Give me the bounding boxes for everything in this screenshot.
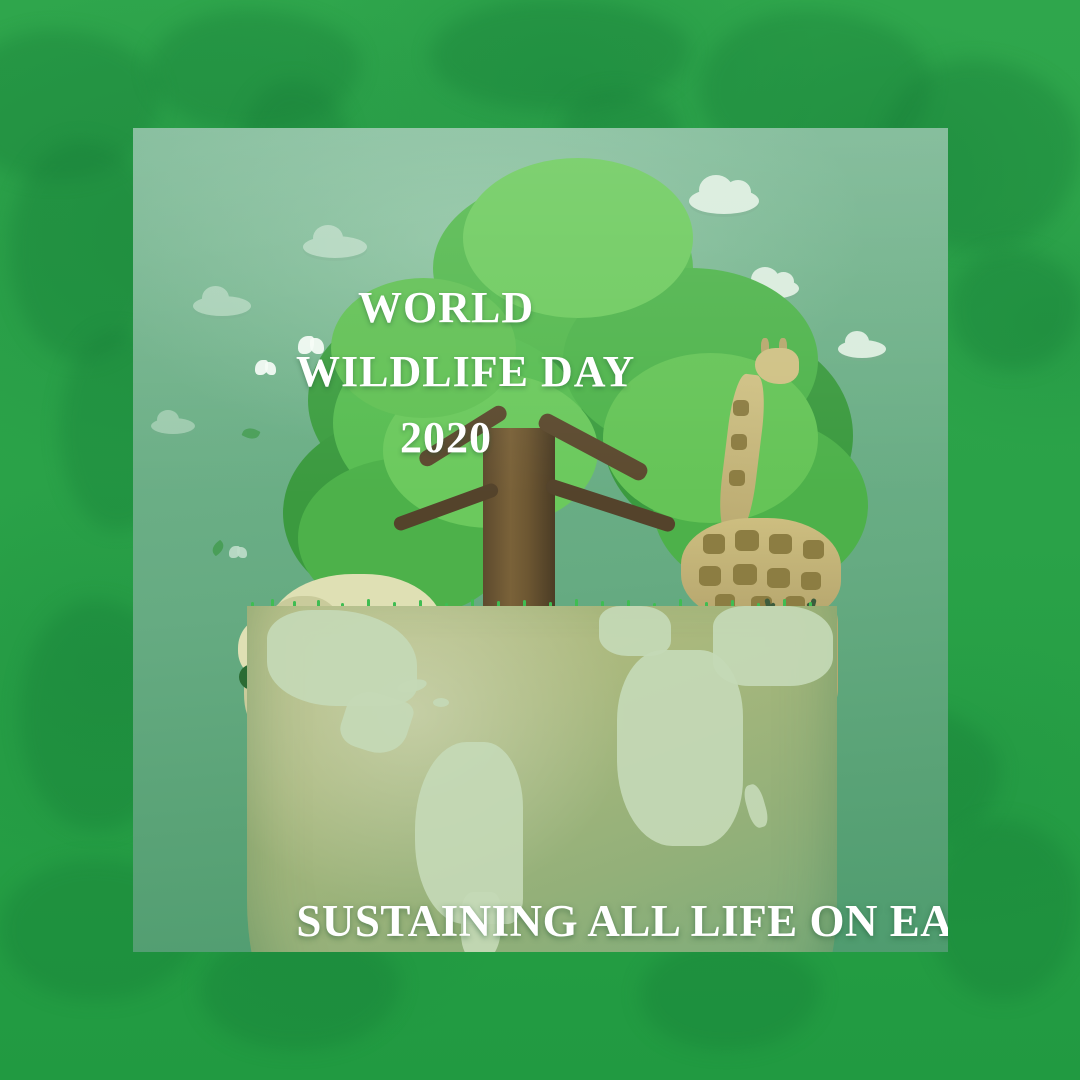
headline-line-2: WILDLIFE DAY — [296, 350, 635, 394]
continent-europe — [599, 606, 671, 656]
footer-bar: GADEF Preserving Humanity — [0, 952, 1080, 1080]
continent-asia — [713, 606, 833, 686]
headline-line-1: WORLD — [358, 286, 534, 330]
poster-canvas: WORLD WILDLIFE DAY 2020 SUSTAINING ALL L… — [0, 0, 1080, 1080]
tagline-text: SUSTAINING ALL LIFE ON EARTH — [266, 890, 948, 952]
headline-line-3: 2020 — [400, 416, 492, 460]
island-small — [433, 698, 449, 707]
artwork-panel: WORLD WILDLIFE DAY 2020 SUSTAINING ALL L… — [133, 128, 948, 952]
